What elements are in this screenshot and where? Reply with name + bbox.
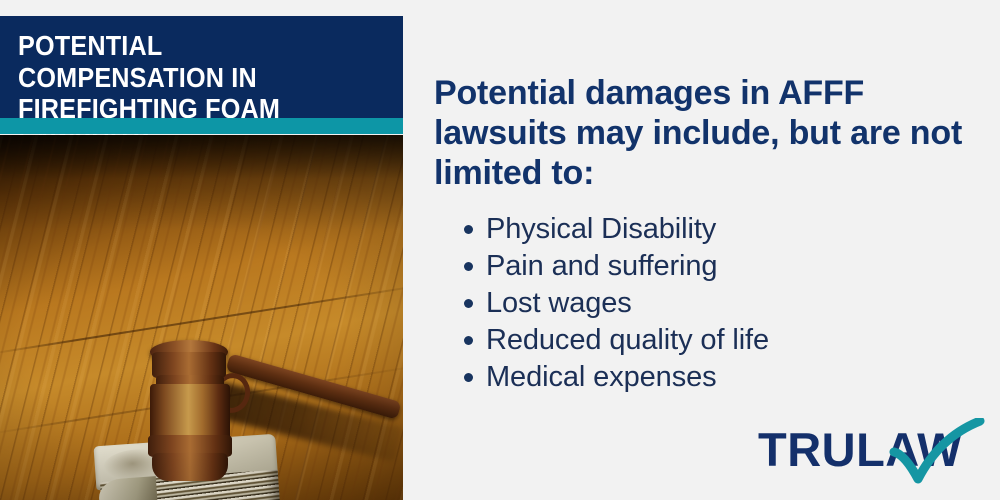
infographic-canvas: POTENTIAL COMPENSATION IN FIREFIGHTING F…	[0, 0, 1000, 500]
list-item-label: Medical expenses	[486, 363, 717, 392]
content-column: Potential damages in AFFF lawsuits may i…	[434, 74, 980, 396]
list-item-label: Physical Disability	[486, 215, 716, 244]
bullet-dot-icon	[464, 262, 473, 271]
list-item-label: Pain and suffering	[486, 252, 717, 281]
gavel-photo	[0, 135, 403, 500]
list-item-label: Reduced quality of life	[486, 326, 769, 355]
bullet-dot-icon	[464, 299, 473, 308]
list-item: Physical Disability	[434, 211, 980, 248]
list-item: Pain and suffering	[434, 248, 980, 285]
list-item: Medical expenses	[434, 359, 980, 396]
checkmark-icon	[888, 418, 988, 484]
list-item-label: Lost wages	[486, 289, 632, 318]
trulaw-logo[interactable]: TRULAW	[758, 424, 986, 486]
title-card: POTENTIAL COMPENSATION IN FIREFIGHTING F…	[0, 16, 403, 118]
bullet-dot-icon	[464, 225, 473, 234]
list-item: Lost wages	[434, 285, 980, 322]
list-item: Reduced quality of life	[434, 322, 980, 359]
bullet-dot-icon	[464, 336, 473, 345]
bullet-dot-icon	[464, 373, 473, 382]
headline: Potential damages in AFFF lawsuits may i…	[434, 74, 980, 193]
teal-accent-bar	[0, 118, 403, 134]
photo-vignette	[0, 135, 403, 500]
damages-list: Physical Disability Pain and suffering L…	[434, 211, 980, 396]
